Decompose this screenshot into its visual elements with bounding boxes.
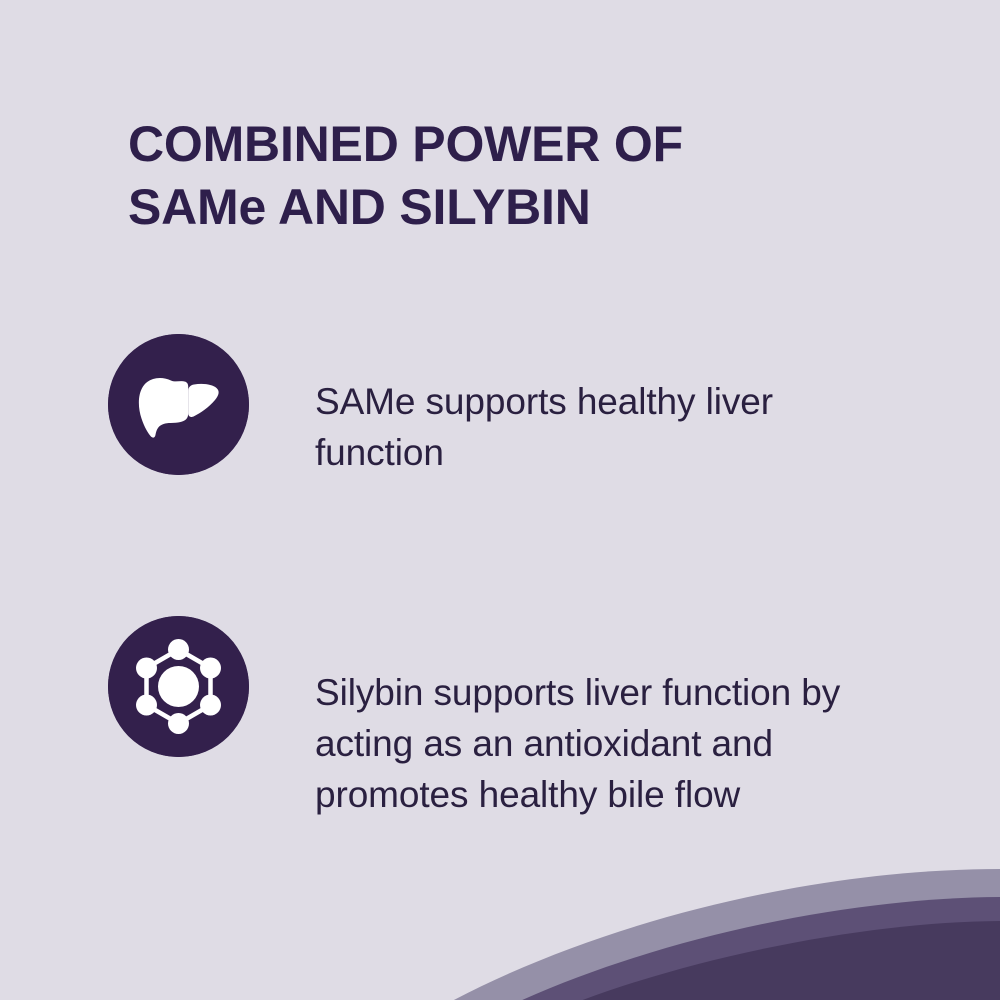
page-title: COMBINED POWER OF SAMe AND SILYBIN [128,113,888,239]
molecule-icon [108,616,249,757]
dark-band [580,921,1000,1000]
liver-icon [108,334,249,475]
feature-item-silybin-label: Silybin supports liver function by actin… [315,653,875,820]
feature-item-same-label: SAMe supports healthy liver function [315,371,875,478]
feature-item-silybin: Silybin supports liver function by actin… [108,616,908,857]
feature-item-same: SAMe supports healthy liver function [108,334,908,515]
page-title-line-2: SAMe AND SILYBIN [128,176,888,239]
feature-list: SAMe supports healthy liver function [108,334,908,857]
light-band [452,869,1000,1000]
poster-canvas: COMBINED POWER OF SAMe AND SILYBIN SAMe … [0,0,1000,1000]
medium-band [520,897,1000,1000]
page-title-line-1: COMBINED POWER OF [128,113,888,176]
